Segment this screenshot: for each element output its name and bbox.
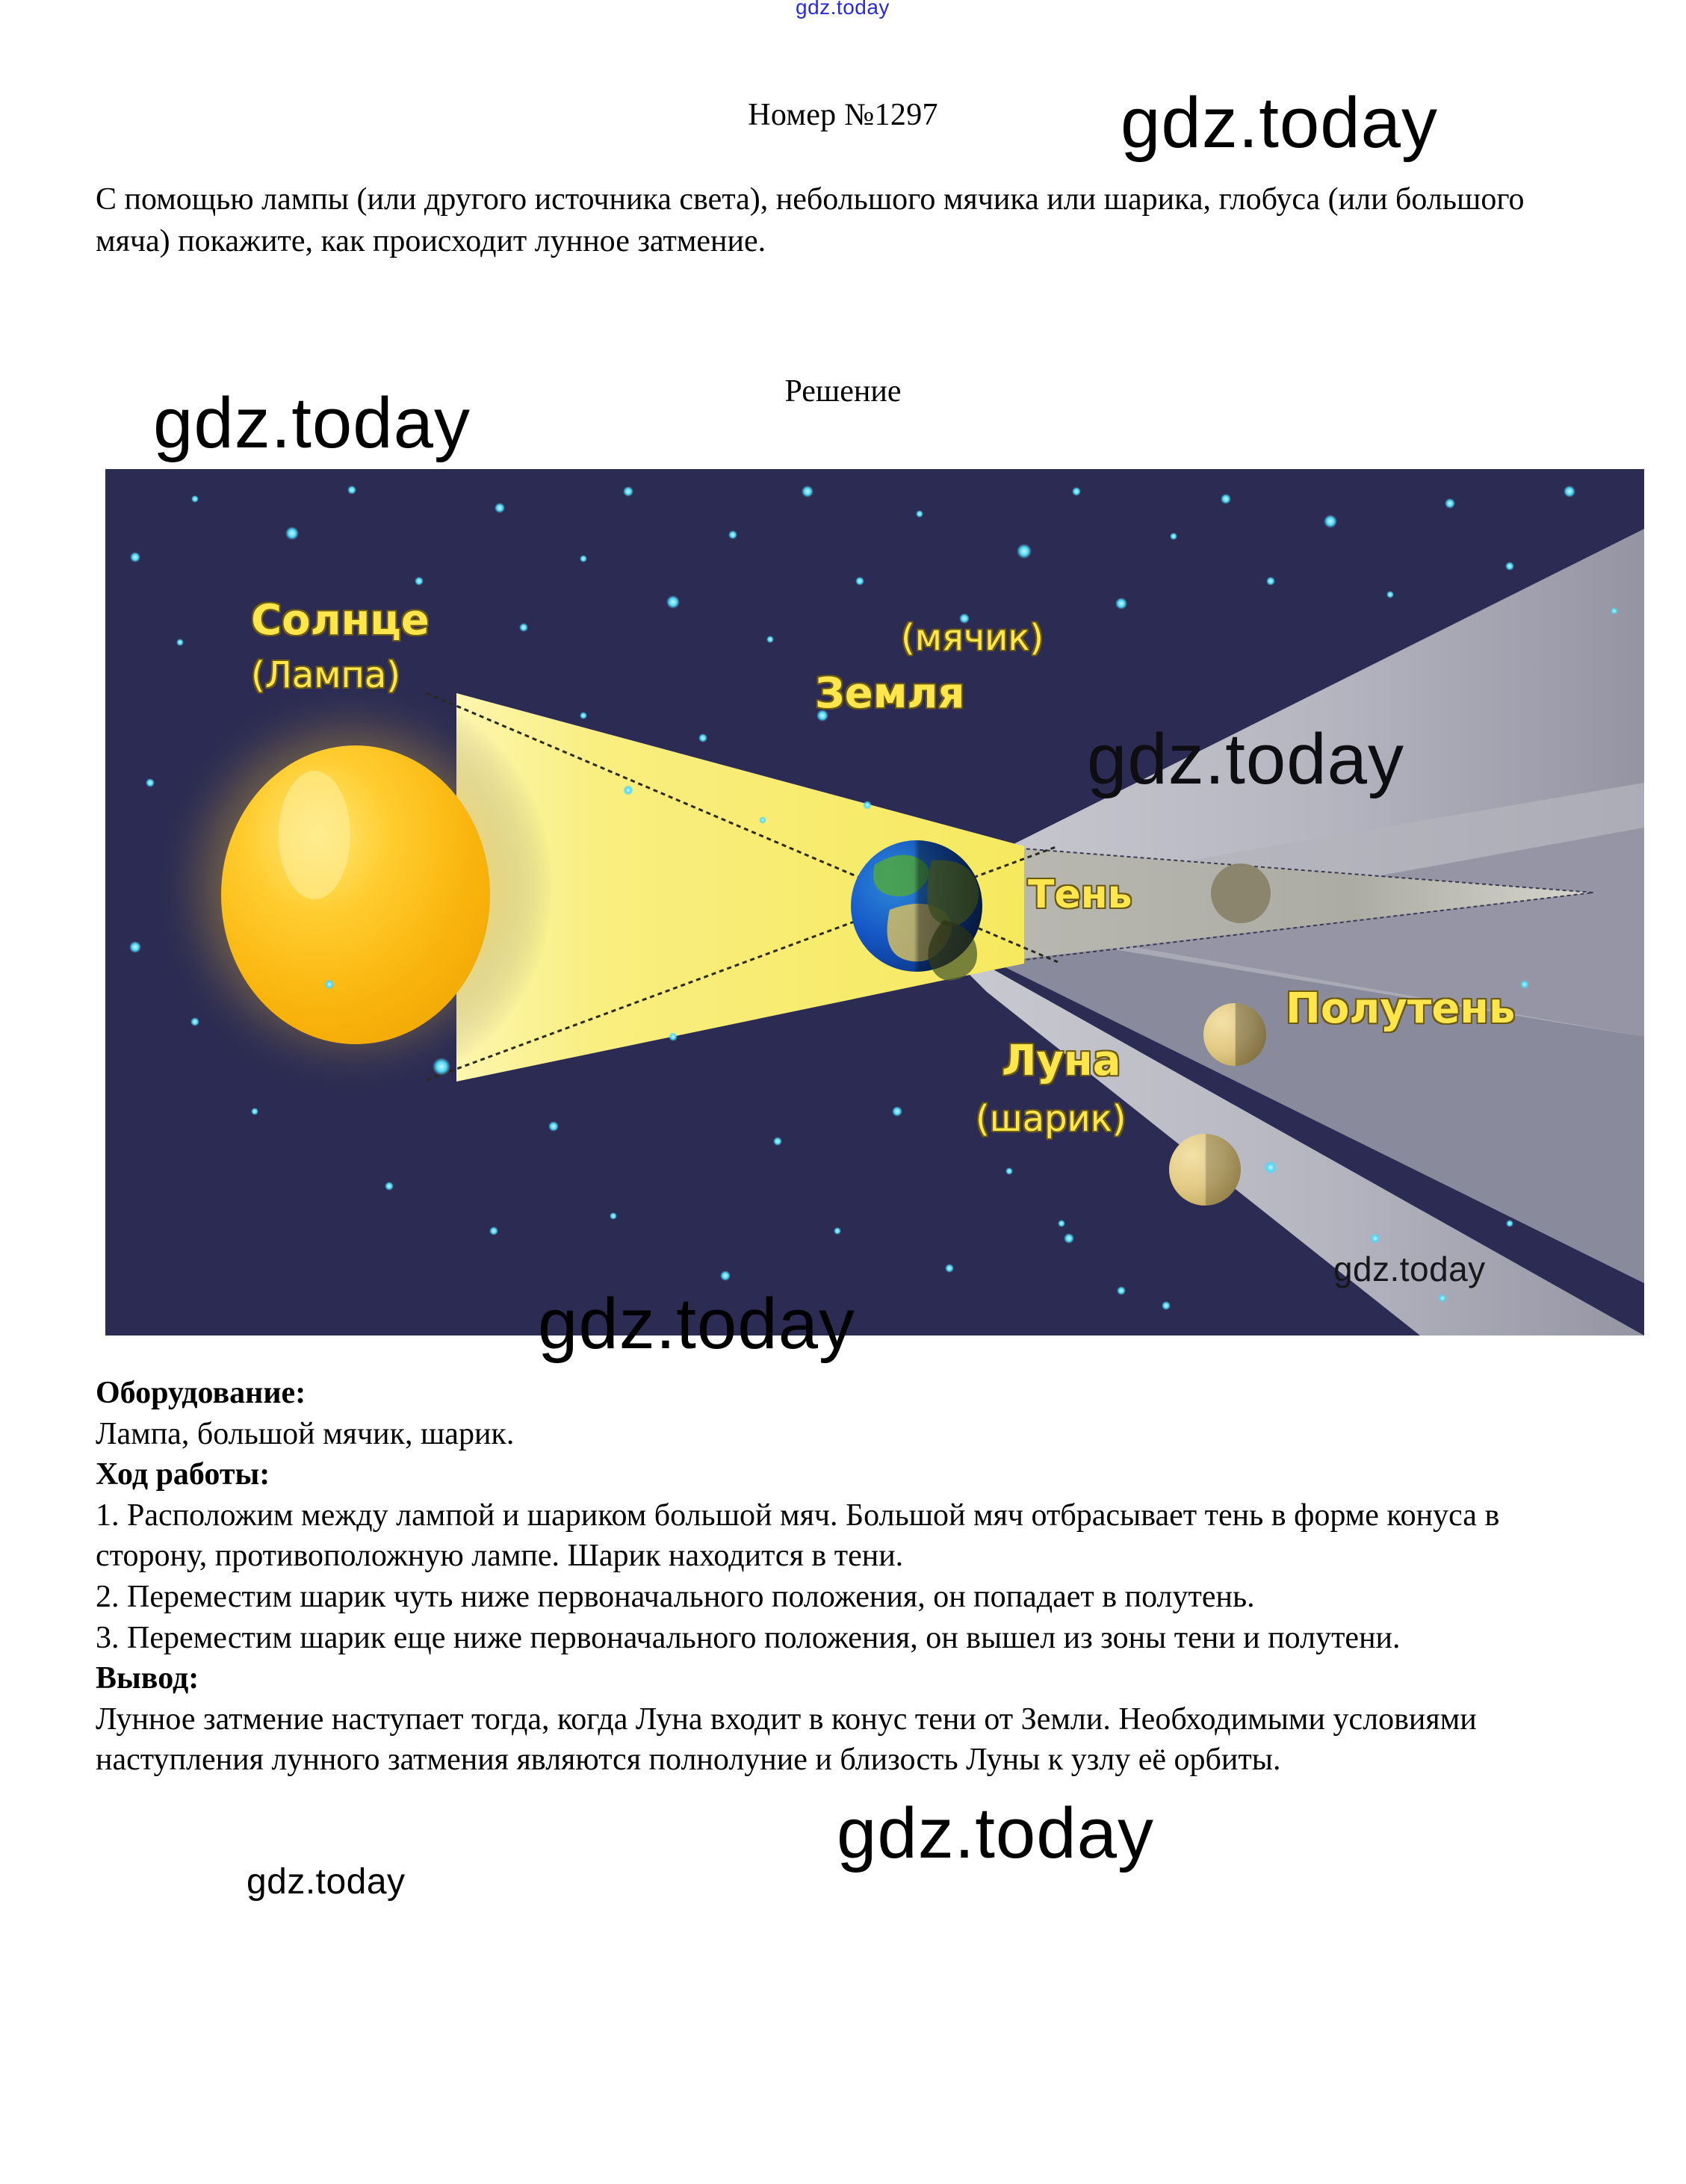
- procedure-step-2: 2. Переместим шарик чуть ниже первоначал…: [96, 1577, 1590, 1618]
- sun-highlight: [279, 771, 350, 899]
- moon-in-umbra-shade: [1211, 863, 1271, 923]
- procedure-step-3: 3. Переместим шарик еще ниже первоначаль…: [96, 1618, 1590, 1659]
- conclusion-text: Лунное затмение наступает тогда, когда Л…: [96, 1699, 1590, 1781]
- watermark-6: gdz.today: [837, 1793, 1154, 1875]
- task-statement: С помощью лампы (или другого источника с…: [96, 179, 1560, 263]
- moon-outside-shadow-shade: [1169, 1134, 1241, 1206]
- conclusion-heading: Вывод:: [96, 1661, 199, 1696]
- watermark-top: gdz.today: [796, 0, 890, 19]
- page-title: Номер №1297: [0, 97, 1686, 133]
- solution-heading: Решение: [0, 373, 1686, 409]
- procedure-step-1: 1. Расположим между лампой и шариком бол…: [96, 1495, 1590, 1577]
- solution-body: Оборудование: Лампа, большой мячик, шари…: [96, 1373, 1590, 1781]
- page-root: gdz.today Номер №1297 С помощью лампы (и…: [0, 0, 1686, 2184]
- lunar-eclipse-diagram: Солнце (Лампа) Земля (мячик) Тень Полуте…: [105, 469, 1644, 1335]
- earth-terminator: [851, 840, 982, 972]
- sun-body: [221, 745, 490, 1044]
- procedure-heading: Ход работы:: [96, 1454, 1590, 1495]
- watermark-7: gdz.today: [247, 1861, 405, 1902]
- equipment-heading: Оборудование:: [96, 1373, 1590, 1414]
- equipment-text: Лампа, большой мячик, шарик.: [96, 1414, 1590, 1455]
- diagram-canvas: [105, 469, 1644, 1335]
- moon-in-penumbra-shade: [1203, 1003, 1266, 1066]
- conclusion-block: Вывод:: [96, 1658, 1590, 1699]
